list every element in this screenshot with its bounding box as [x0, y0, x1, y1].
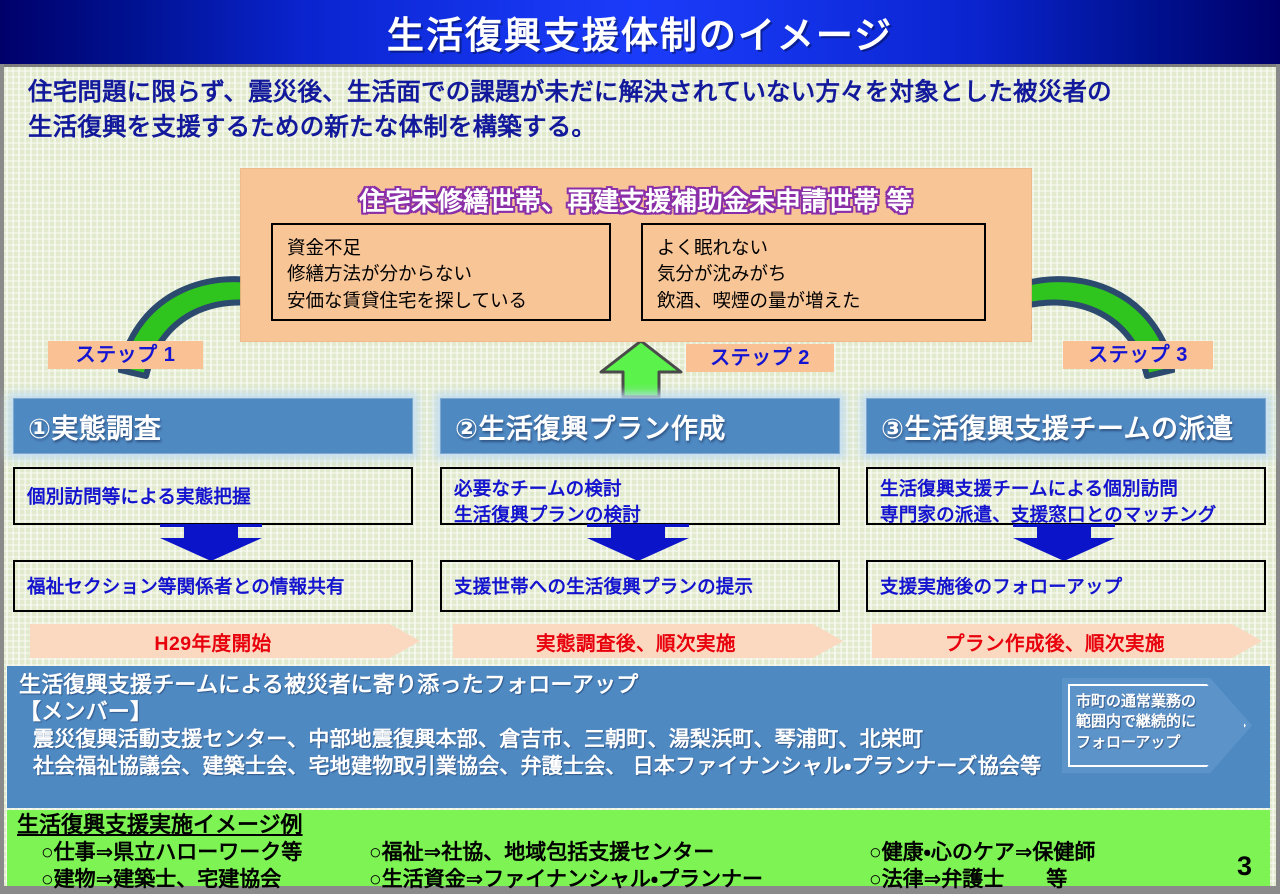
detail-line: 生活復興支援チームによる個別訪問 — [880, 476, 1264, 502]
example-cell: ○健康・心のケア⇒保健師 — [869, 839, 1219, 866]
step-chip-2: ステップ 2 — [686, 344, 834, 372]
timing-banner-3-label: プラン作成後、順次実施 — [945, 627, 1165, 656]
column-header-1-label: ①実態調査 — [28, 407, 161, 446]
municipal-note-text: 市町の通常業務の 範囲内で継続的に フォローアップ — [1076, 692, 1216, 753]
column-header-3-label: ③生活復興支援チームの派遣 — [881, 407, 1234, 446]
column-header-3: ③生活復興支援チームの派遣 — [866, 398, 1266, 454]
example-cell: ○法律⇒弁護士 等 — [869, 866, 1219, 893]
slide-frame-right — [1276, 64, 1280, 886]
examples-row-1: ○仕事⇒県立ハローワーク等 ○福祉⇒社協、地域包括支援センター ○健康・心のケア… — [17, 839, 1270, 866]
lead-line-2: 生活復興を支援するための新たな体制を構築する。 — [28, 111, 1228, 146]
timing-banner-3: プラン作成後、順次実施 — [872, 624, 1262, 658]
title-divider — [0, 64, 1280, 67]
symptom-line: 修繕方法が分からない — [287, 261, 609, 287]
column-header-2-label: ②生活復興プラン作成 — [455, 407, 726, 446]
examples-title: 生活復興支援実施イメージ例 — [17, 812, 303, 839]
down-arrow-icon-2 — [587, 524, 689, 561]
symptom-line: 気分が沈みがち — [657, 261, 984, 287]
detail-line: 必要なチームの検討 — [454, 476, 838, 502]
slide-canvas: 生活復興支援体制のイメージ 住宅問題に限らず、震災後、生活面での課題が未だに解決… — [0, 0, 1280, 894]
symptom-box-financial: 資金不足 修繕方法が分からない 安価な賃貸住宅を探している — [271, 223, 611, 321]
up-arrow-center-icon — [597, 338, 685, 400]
slide-title-bar: 生活復興支援体制のイメージ — [0, 0, 1280, 64]
detail-box-2-lower: 支援世帯への生活復興プランの提示 — [440, 560, 840, 612]
symptom-line: 資金不足 — [287, 235, 609, 261]
down-arrow-icon-3 — [1013, 524, 1115, 561]
detail-line: 支援世帯への生活復興プランの提示 — [454, 574, 838, 600]
note-line: 範囲内で継続的に — [1076, 712, 1216, 732]
detail-box-3-upper: 生活復興支援チームによる個別訪問 専門家の派遣、支援窓口とのマッチング — [866, 467, 1266, 525]
examples-row-2: ○建物⇒建築士、宅建協会 ○生活資金⇒ファイナンシャル・プランナー ○法律⇒弁護… — [17, 866, 1270, 893]
target-heading: 住宅未修繕世帯、再建支援補助金未申請世帯 等 — [241, 181, 1031, 218]
example-cell: ○福祉⇒社協、地域包括支援センター — [369, 839, 869, 866]
symptom-box-health: よく眠れない 気分が沈みがち 飲酒、喫煙の量が増えた — [641, 223, 986, 321]
step-chip-3: ステップ 3 — [1063, 341, 1213, 369]
note-line: 市町の通常業務の — [1076, 692, 1216, 712]
detail-line: 支援実施後のフォローアップ — [880, 574, 1264, 600]
symptom-line: 飲酒、喫煙の量が増えた — [657, 288, 984, 314]
detail-line: 福祉セクション等関係者との情報共有 — [27, 574, 411, 600]
timing-banner-1: H29年度開始 — [30, 624, 420, 658]
note-line: フォローアップ — [1076, 733, 1216, 753]
timing-banner-2-label: 実態調査後、順次実施 — [536, 627, 736, 656]
page-number: 3 — [1237, 851, 1252, 882]
target-households-box: 住宅未修繕世帯、再建支援補助金未申請世帯 等 資金不足 修繕方法が分からない 安… — [241, 169, 1031, 341]
slide-frame-left — [0, 64, 4, 886]
page-title: 生活復興支援体制のイメージ — [0, 5, 1280, 59]
column-header-2: ②生活復興プラン作成 — [440, 398, 840, 454]
detail-box-1-upper: 個別訪問等による実態把握 — [13, 467, 413, 525]
lead-paragraph: 住宅問題に限らず、震災後、生活面での課題が未だに解決されていない方々を対象とした… — [28, 76, 1228, 146]
symptom-line: 安価な賃貸住宅を探している — [287, 288, 609, 314]
down-arrow-icon-1 — [160, 524, 262, 561]
column-header-1: ①実態調査 — [13, 398, 413, 454]
lead-line-1: 住宅問題に限らず、震災後、生活面での課題が未だに解決されていない方々を対象とした… — [28, 76, 1228, 111]
timing-banner-1-label: H29年度開始 — [154, 627, 271, 656]
example-cell: ○生活資金⇒ファイナンシャル・プランナー — [369, 866, 869, 893]
detail-box-1-lower: 福祉セクション等関係者との情報共有 — [13, 560, 413, 612]
detail-box-2-upper: 必要なチームの検討 生活復興プランの検討 — [440, 467, 840, 525]
step-chip-1: ステップ 1 — [48, 341, 203, 369]
example-cell: ○仕事⇒県立ハローワーク等 — [17, 839, 369, 866]
timing-banner-2: 実態調査後、順次実施 — [453, 624, 843, 658]
example-cell: ○建物⇒建築士、宅建協会 — [17, 866, 369, 893]
detail-line: 個別訪問等による実態把握 — [27, 484, 411, 510]
detail-box-3-lower: 支援実施後のフォローアップ — [866, 560, 1266, 612]
examples-band: 生活復興支援実施イメージ例 ○仕事⇒県立ハローワーク等 ○福祉⇒社協、地域包括支… — [7, 810, 1270, 886]
symptom-line: よく眠れない — [657, 235, 984, 261]
